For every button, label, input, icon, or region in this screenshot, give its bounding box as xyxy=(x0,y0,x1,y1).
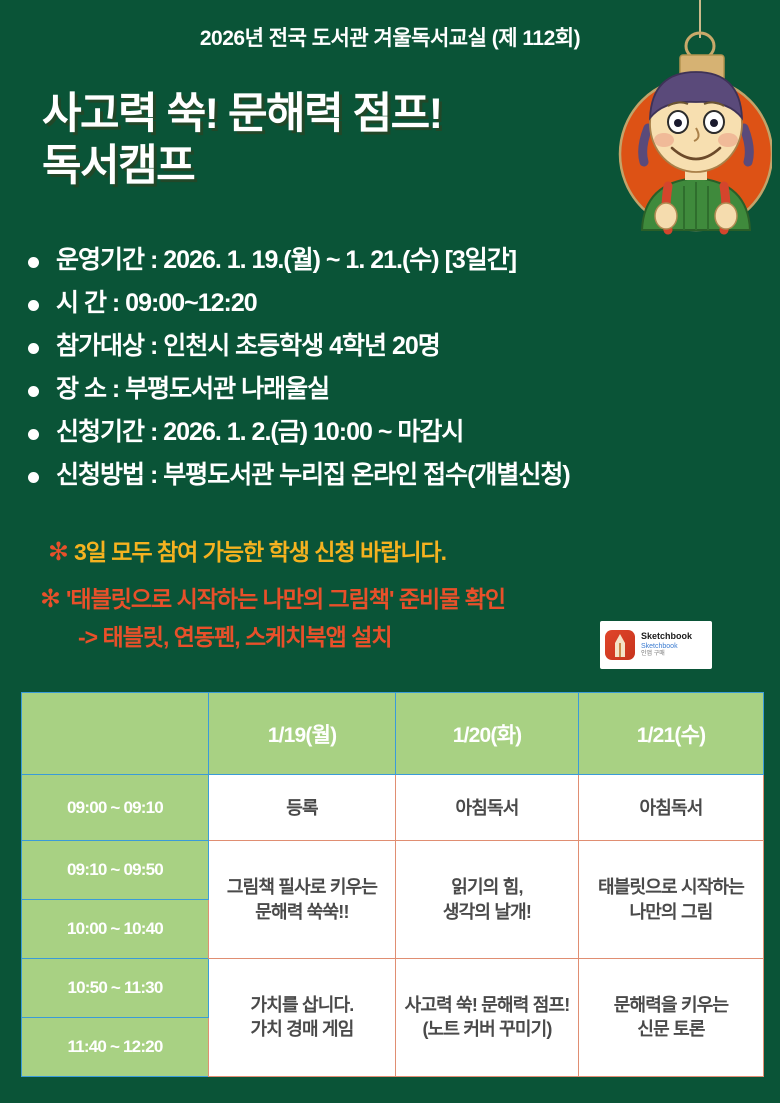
schedule-row: 09:10 ~ 09:50그림책 필사로 키우는문해력 쑥쑥!!읽기의 힘,생각… xyxy=(22,841,764,900)
info-separator: : xyxy=(144,461,163,489)
bullet-dot-icon xyxy=(28,472,39,483)
schedule-activity-cell: 등록 xyxy=(209,775,396,841)
schedule-activity-cell: 문해력을 키우는신문 토론 xyxy=(579,958,764,1076)
program-info-list: 운영기간 : 2026. 1. 19.(월) ~ 1. 21.(수) [3일간]… xyxy=(22,248,768,506)
info-list-item: 신청방법 : 부평도서관 누리집 온라인 접수(개별신청) xyxy=(22,463,768,488)
schedule-activity-cell: 가치를 삽니다.가치 경매 게임 xyxy=(209,958,396,1076)
schedule-activity-cell: 사고력 쑥! 문해력 점프!(노트 커버 꾸미기) xyxy=(396,958,579,1076)
info-label: 신청기간 xyxy=(56,420,144,445)
bullet-dot-icon xyxy=(28,300,39,311)
schedule-day-header: 1/20(화) xyxy=(396,693,579,775)
sketchbook-title: Sketchbook xyxy=(641,632,692,641)
note-item-2: ✻'태블릿으로 시작하는 나만의 그림책' 준비물 확인 xyxy=(40,587,760,612)
sketchbook-subtitle: Sketchbook xyxy=(641,643,692,650)
schedule-table: 1/19(월)1/20(화)1/21(수)09:00 ~ 09:10등록아침독서… xyxy=(21,692,764,1077)
schedule-time-cell: 09:10 ~ 09:50 xyxy=(22,841,209,900)
poster-root: 2026년 전국 도서관 겨울독서교실 (제 112회) xyxy=(0,0,780,1103)
schedule-day-header: 1/19(월) xyxy=(209,693,396,775)
schedule-corner-cell xyxy=(22,693,209,775)
title-line-2: 독서캠프 xyxy=(42,140,442,192)
poster-title: 사고력 쑥! 문해력 점프! 독서캠프 xyxy=(42,88,442,193)
note-1-text: 3일 모두 참여 가능한 학생 신청 바랍니다. xyxy=(74,539,446,565)
schedule-row: 09:00 ~ 09:10등록아침독서아침독서 xyxy=(22,775,764,841)
bullet-dot-icon xyxy=(28,429,39,440)
schedule-time-cell: 10:50 ~ 11:30 xyxy=(22,958,209,1017)
note-3-text: -> 태블릿, 연동펜, 스케치북앱 설치 xyxy=(78,624,392,650)
schedule-activity-cell: 태블릿으로 시작하는나만의 그림 xyxy=(579,841,764,959)
title-line-1: 사고력 쑥! 문해력 점프! xyxy=(42,88,442,140)
schedule-row: 10:50 ~ 11:30가치를 삽니다.가치 경매 게임사고력 쑥! 문해력 … xyxy=(22,958,764,1017)
schedule-activity-cell: 아침독서 xyxy=(579,775,764,841)
info-list-item: 신청기간 : 2026. 1. 2.(금) 10:00 ~ 마감시 xyxy=(22,420,768,445)
info-label: 장 소 xyxy=(56,377,106,402)
info-list-item: 시 간 : 09:00~12:20 xyxy=(22,291,768,316)
bullet-dot-icon xyxy=(28,257,39,268)
info-list-item: 운영기간 : 2026. 1. 19.(월) ~ 1. 21.(수) [3일간] xyxy=(22,248,768,273)
info-label: 신청방법 xyxy=(56,463,144,488)
info-value: 부평도서관 누리집 온라인 접수(개별신청) xyxy=(163,461,570,489)
sketchbook-caption: 인앱 구매 xyxy=(641,651,692,657)
schedule-activity-cell: 아침독서 xyxy=(396,775,579,841)
bullet-dot-icon xyxy=(28,386,39,397)
info-separator: : xyxy=(144,246,163,274)
program-series-heading: 2026년 전국 도서관 겨울독서교실 (제 112회) xyxy=(0,22,780,52)
info-value: 09:00~12:20 xyxy=(125,289,256,317)
info-separator: : xyxy=(106,289,125,317)
info-label: 시 간 xyxy=(56,291,106,316)
info-value: 부평도서관 나래울실 xyxy=(125,375,329,403)
info-value: 2026. 1. 2.(금) 10:00 ~ 마감시 xyxy=(163,418,463,446)
schedule-header-row: 1/19(월)1/20(화)1/21(수) xyxy=(22,693,764,775)
info-value: 2026. 1. 19.(월) ~ 1. 21.(수) [3일간] xyxy=(163,246,516,274)
schedule-time-cell: 09:00 ~ 09:10 xyxy=(22,775,209,841)
note-item-1: ✻3일 모두 참여 가능한 학생 신청 바랍니다. xyxy=(40,540,760,565)
note-2-text: '태블릿으로 시작하는 나만의 그림책' 준비물 확인 xyxy=(66,586,505,612)
schedule-activity-cell: 그림책 필사로 키우는문해력 쑥쑥!! xyxy=(209,841,396,959)
sketchbook-app-card[interactable]: Sketchbook Sketchbook 인앱 구매 xyxy=(600,621,712,669)
sketchbook-card-text: Sketchbook Sketchbook 인앱 구매 xyxy=(641,632,692,657)
asterisk-icon: ✻ xyxy=(48,538,68,566)
info-value: 인천시 초등학생 4학년 20명 xyxy=(163,332,440,360)
schedule-time-cell: 11:40 ~ 12:20 xyxy=(22,1017,209,1076)
bullet-dot-icon xyxy=(28,343,39,354)
info-separator: : xyxy=(144,332,163,360)
info-label: 운영기간 xyxy=(56,248,144,273)
schedule-activity-cell: 읽기의 힘,생각의 날개! xyxy=(396,841,579,959)
sketchbook-app-icon xyxy=(605,630,635,660)
info-list-item: 장 소 : 부평도서관 나래울실 xyxy=(22,377,768,402)
schedule-time-cell: 10:00 ~ 10:40 xyxy=(22,900,209,959)
info-list-item: 참가대상 : 인천시 초등학생 4학년 20명 xyxy=(22,334,768,359)
info-label: 참가대상 xyxy=(56,334,144,359)
info-separator: : xyxy=(106,375,125,403)
schedule-day-header: 1/21(수) xyxy=(579,693,764,775)
asterisk-icon: ✻ xyxy=(40,585,60,613)
info-separator: : xyxy=(144,418,163,446)
